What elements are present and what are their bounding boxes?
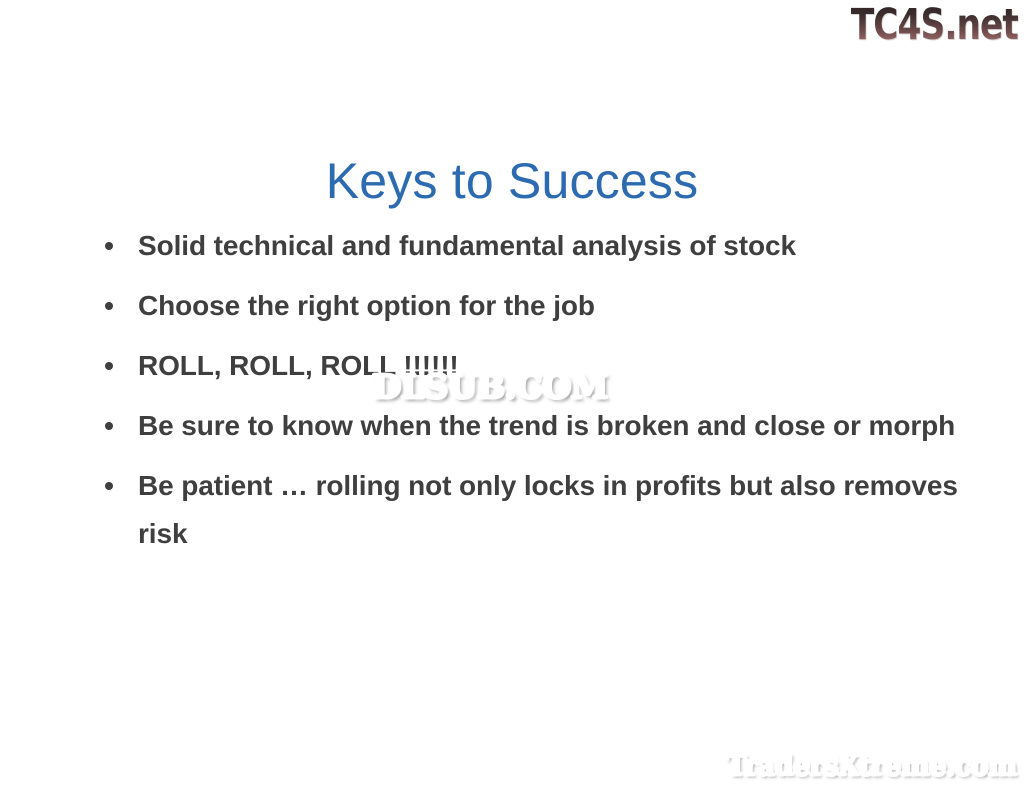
bullet-dot-icon: [105, 242, 113, 250]
list-item-label: Solid technical and fundamental analysis…: [138, 222, 958, 270]
list-item: Solid technical and fundamental analysis…: [98, 222, 958, 270]
dlsub-watermark-label: DLSUB.COM: [372, 367, 607, 406]
list-item-label: Choose the right option for the job: [138, 282, 958, 330]
list-item: Be sure to know when the trend is broken…: [98, 402, 958, 450]
bullet-dot-icon: [105, 482, 113, 490]
list-item: Be patient … rolling not only locks in p…: [98, 462, 958, 558]
bullet-dot-icon: [105, 362, 113, 370]
bullet-dot-icon: [105, 302, 113, 310]
tradersxtreme-watermark: TradersXtreme.com: [726, 749, 1016, 783]
bullet-dot-icon: [105, 422, 113, 430]
list-item: Choose the right option for the job: [98, 282, 958, 330]
list-item-label: Be sure to know when the trend is broken…: [138, 402, 958, 450]
page-title: Keys to Success: [0, 152, 1024, 210]
list-item-label: Be patient … rolling not only locks in p…: [138, 462, 958, 558]
tradersxtreme-watermark-label: TradersXtreme.com: [726, 749, 1016, 782]
dlsub-watermark: DLSUB.COM: [372, 369, 607, 405]
presentation-slide: TC4S.net Keys to Success Solid technical…: [0, 0, 1024, 791]
tc4s-watermark: TC4S.net: [851, 1, 1018, 49]
